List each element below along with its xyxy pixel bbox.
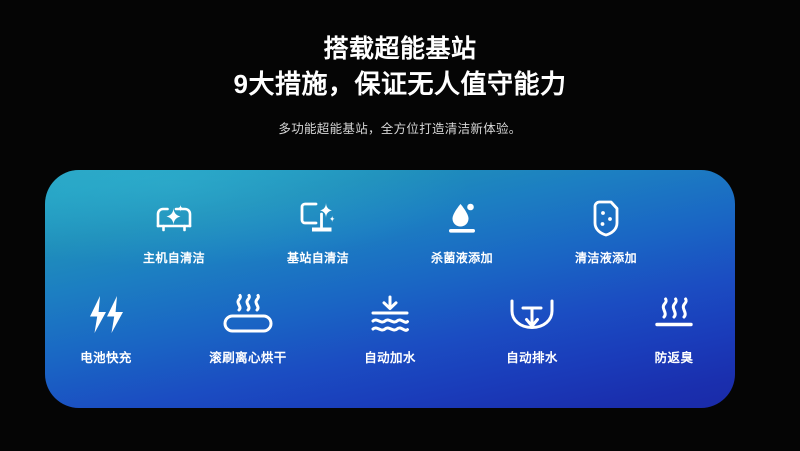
feature-item-self-clean-station[interactable]: 基站自清洁 [270,196,366,266]
robot-vacuum-sparkle-icon [154,196,194,240]
page-root: 搭载超能基站 9大措施，保证无人值守能力 多功能超能基站，全方位打造清洁新体验。 [0,0,800,451]
feature-label: 电池快充 [80,350,132,366]
roller-brush-heat-icon [222,292,274,338]
feature-item-anti-odor[interactable]: 防返臭 [624,292,724,366]
feature-row-one: 主机自清洁 基站自清洁 [45,196,735,266]
feature-item-auto-water-fill[interactable]: 自动加水 [340,292,440,366]
base-station-sparkle-icon [299,196,337,240]
feature-label: 主机自清洁 [143,250,205,266]
feature-label: 自动加水 [364,350,416,366]
droplet-over-bar-icon [444,196,480,240]
feature-item-disinfectant-add[interactable]: 杀菌液添加 [414,196,510,266]
page-title-line-1: 搭载超能基站 [0,32,800,66]
heading-block: 搭载超能基站 9大措施，保证无人值守能力 多功能超能基站，全方位打造清洁新体验。 [0,32,800,138]
page-subtitle: 多功能超能基站，全方位打造清洁新体验。 [0,120,800,138]
feature-item-detergent-add[interactable]: 清洁液添加 [558,196,654,266]
page-title-line-2: 9大措施，保证无人值守能力 [0,66,800,102]
basin-drain-arrow-icon [509,292,555,338]
feature-label: 防返臭 [655,350,694,366]
feature-item-auto-drain[interactable]: 自动排水 [482,292,582,366]
feature-card: 主机自清洁 基站自清洁 [45,170,735,408]
feature-row-two: 电池快充 滚刷离心烘干 [45,292,735,366]
feature-label: 清洁液添加 [575,250,637,266]
feature-label: 自动排水 [506,350,558,366]
feature-label: 杀菌液添加 [431,250,493,266]
arrow-down-water-waves-icon [369,292,411,338]
feature-item-fast-charge[interactable]: 电池快充 [56,292,156,366]
feature-item-roller-brush-dry[interactable]: 滚刷离心烘干 [198,292,298,366]
feature-label: 基站自清洁 [287,250,349,266]
detergent-bottle-icon [591,196,621,240]
feature-label: 滚刷离心烘干 [209,350,286,366]
odor-waves-bar-icon [653,292,695,338]
double-lightning-bolt-icon [85,292,127,338]
feature-item-self-clean-robot[interactable]: 主机自清洁 [126,196,222,266]
